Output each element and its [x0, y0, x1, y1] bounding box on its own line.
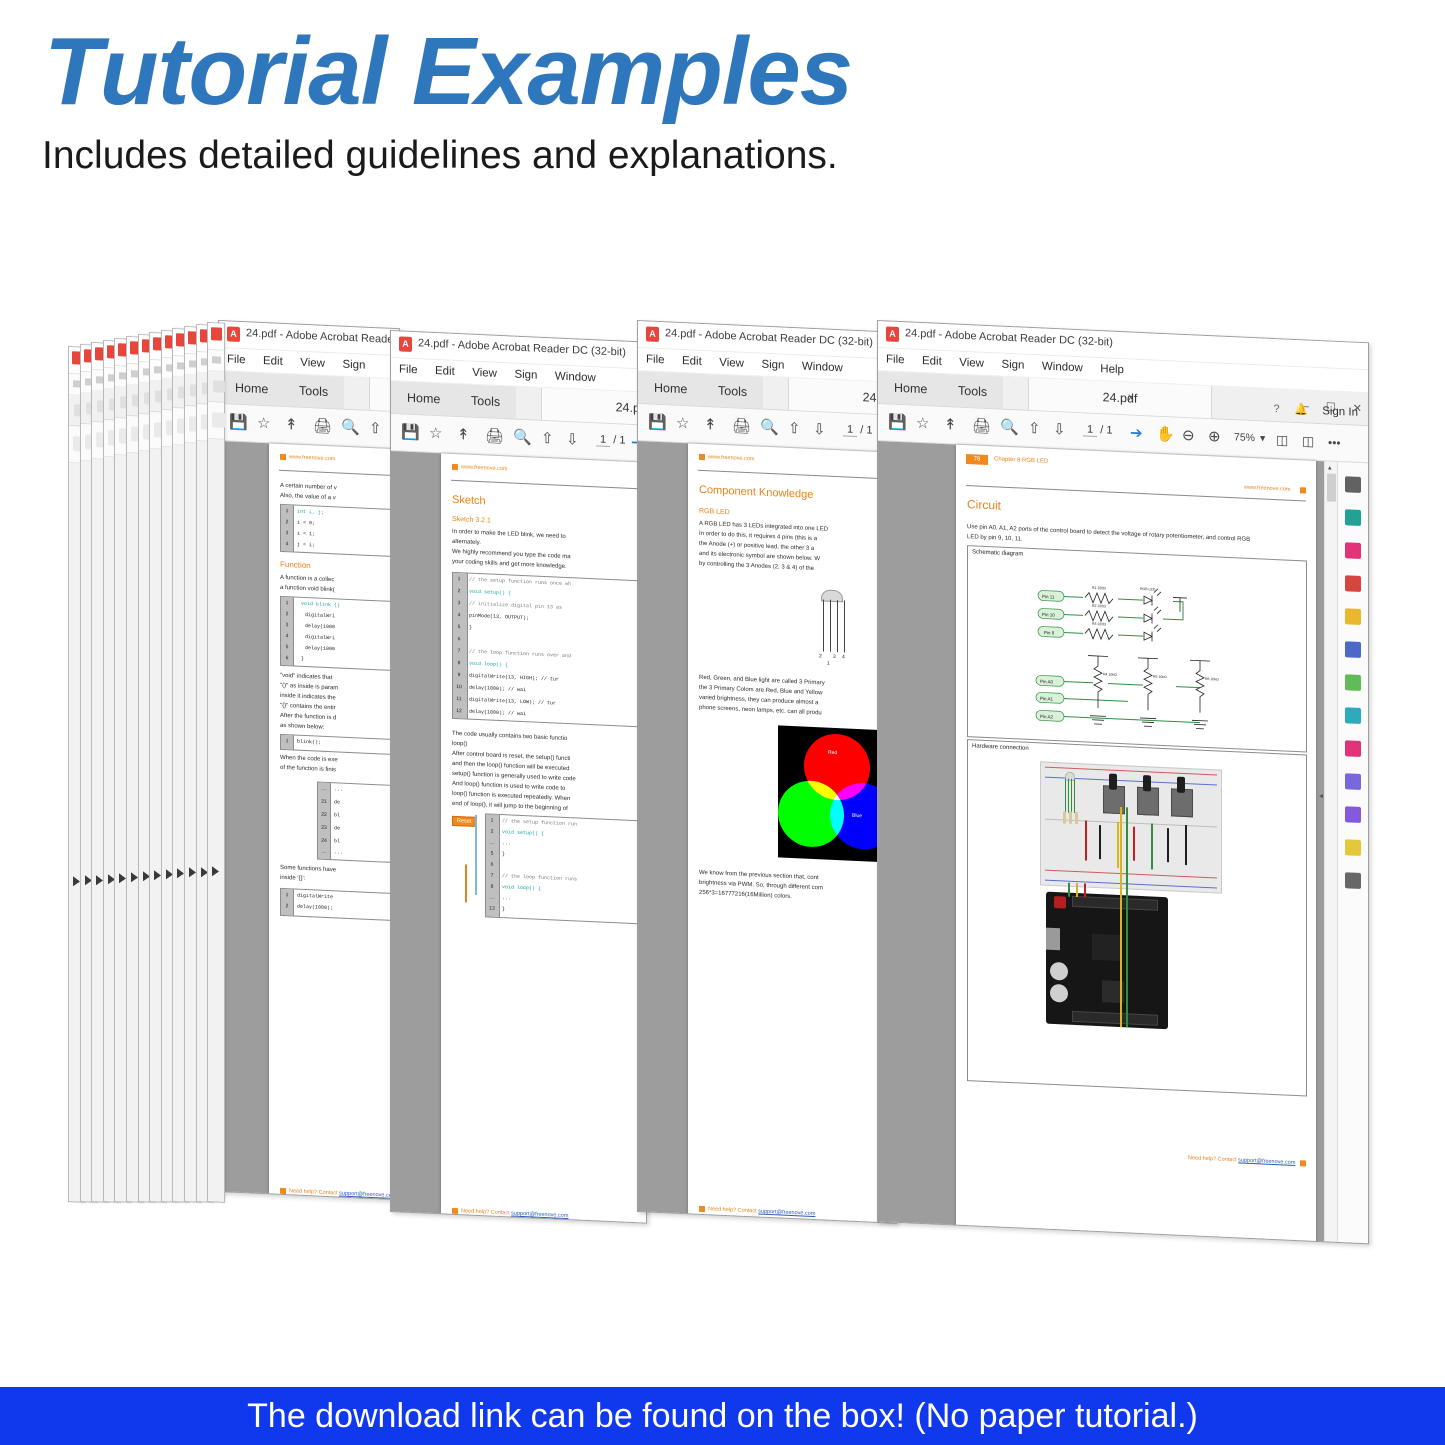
- print-icon[interactable]: 🖨: [972, 416, 991, 437]
- tab-home[interactable]: Home: [219, 371, 284, 406]
- star-icon[interactable]: ☆: [429, 424, 442, 445]
- code-line: digitalWrite(13, LOW); // tur: [469, 697, 556, 707]
- save-icon[interactable]: 💾: [648, 412, 667, 433]
- window-stack-stage: A 24.pdf - Adobe Acrobat Reader DC (32-b…: [0, 210, 1445, 1340]
- code-line-number: 3: [282, 530, 292, 536]
- tab-close-button[interactable]: x: [1128, 391, 1134, 403]
- code-line-number: 1: [282, 508, 292, 514]
- tab-tools[interactable]: Tools: [455, 384, 516, 419]
- page-separator: /: [1100, 424, 1103, 436]
- hardware-label: Hardware connection: [972, 743, 1029, 752]
- chevron-right-icon[interactable]: [131, 872, 138, 882]
- code-line: ...: [502, 895, 511, 901]
- chevron-right-icon[interactable]: [73, 876, 80, 886]
- code-line: // the loop function runs: [502, 873, 577, 882]
- print-icon[interactable]: 🖨: [485, 426, 504, 447]
- paragraph: loop(): [452, 740, 467, 750]
- arrow-up-icon[interactable]: ⇧: [369, 419, 382, 440]
- document-viewer[interactable]: 78 Chapter 8 RGB LED www.freenove.com Ci…: [878, 441, 1368, 1244]
- code-line-number: 7: [454, 648, 464, 654]
- code-line: blink();: [297, 739, 321, 746]
- code-line-number: ...: [487, 839, 497, 845]
- code-line: // the loop function runs over and: [469, 649, 571, 660]
- menu-file[interactable]: File: [399, 358, 418, 381]
- code-line: delay(1000: [305, 623, 335, 630]
- page-total: 1: [1106, 424, 1112, 436]
- page-separator: /: [860, 424, 863, 436]
- upload-icon[interactable]: ↟: [457, 425, 470, 446]
- code-line-number: 1: [454, 576, 464, 582]
- menu-sign[interactable]: Sign: [761, 354, 784, 377]
- venn-label-blue: Blue: [852, 813, 862, 819]
- measure-icon[interactable]: [1345, 806, 1361, 823]
- code-line-number: 6: [454, 636, 464, 642]
- code-line: void loop() {: [502, 884, 541, 892]
- subsection-heading: RGB LED: [699, 508, 730, 516]
- code-line-number: 1: [487, 817, 497, 823]
- paragraph: inside '{}':: [280, 874, 305, 884]
- promo-header: Tutorial Examples Includes detailed guid…: [0, 0, 1445, 210]
- code-line-number: 24: [319, 838, 329, 844]
- save-icon[interactable]: 💾: [229, 412, 248, 433]
- combine-files-icon[interactable]: [1345, 641, 1361, 658]
- footer-link[interactable]: support@freenove.com: [511, 1211, 568, 1220]
- code-block: 1 blink();: [280, 734, 400, 757]
- paragraph: The code usually contains two basic func…: [452, 730, 567, 744]
- code-line: delay(1000); // wai: [469, 685, 526, 694]
- organize-pages-icon[interactable]: [1345, 542, 1361, 559]
- menu-window[interactable]: Window: [802, 355, 843, 379]
- magnifier-icon[interactable]: 🔍: [513, 428, 532, 449]
- zoom-level[interactable]: 75%: [1234, 431, 1255, 444]
- page-www: www.freenove.com: [708, 454, 754, 462]
- page-current[interactable]: 1: [1083, 423, 1097, 437]
- acrobat-logo-icon: [211, 327, 222, 340]
- reset-badge: Reset: [452, 816, 476, 827]
- code-line: int i, j;: [297, 509, 324, 516]
- svg-text:R3 220Ω: R3 220Ω: [1092, 622, 1106, 627]
- tab-home[interactable]: Home: [391, 381, 456, 416]
- print-icon[interactable]: 🖨: [732, 416, 751, 437]
- code-line: ...: [502, 840, 511, 846]
- search-icon[interactable]: [1345, 476, 1361, 493]
- code-block: 1 2 3 4 5 6 void blink () digitalWri del…: [280, 596, 400, 673]
- svg-text:R4 10kΩ: R4 10kΩ: [1103, 672, 1117, 677]
- menu-view[interactable]: View: [472, 362, 497, 385]
- vertical-scrollbar[interactable]: ▴ ▾: [1324, 461, 1338, 1244]
- edit-pdf-icon[interactable]: [1345, 674, 1361, 691]
- page-footer: Need help? Contact support@freenove.com: [708, 1206, 815, 1217]
- page-current[interactable]: 1: [596, 433, 610, 447]
- footer-text: Need help? Contact: [461, 1208, 511, 1216]
- pdf-page: www.freenove.com Component Knowledge RGB…: [688, 443, 896, 1223]
- chevron-down-icon[interactable]: ▾: [1260, 432, 1265, 444]
- code-line-number: 3: [454, 600, 464, 606]
- section-heading: Component Knowledge: [699, 484, 813, 501]
- sliver-document-area: [208, 439, 224, 1202]
- code-line-number: 22: [319, 812, 329, 818]
- menu-file[interactable]: File: [227, 348, 246, 371]
- acrobat-logo-icon: A: [886, 326, 899, 342]
- subsection-heading: Sketch 3.2.1: [452, 516, 491, 525]
- code-line: i = 1;: [297, 531, 315, 538]
- code-line: i = 0;: [297, 520, 315, 527]
- arrow-down-icon[interactable]: ⇩: [813, 420, 826, 441]
- window-title: 24.pdf - Adobe Acrobat Reader DC (32-bit…: [418, 337, 626, 358]
- arrow-up-icon[interactable]: ⇧: [1028, 419, 1041, 440]
- upload-icon[interactable]: ↟: [704, 415, 717, 436]
- svg-text:RGB LED: RGB LED: [1140, 587, 1156, 592]
- code-block: 1 2 3 4 int i, j; i = 0; i = 1; j = i;: [280, 504, 400, 559]
- code-line: }: [301, 656, 304, 662]
- page-footer: Need help? Contact support@freenove.com: [289, 1188, 396, 1199]
- acrobat-logo-icon: A: [646, 326, 659, 342]
- scrollbar-thumb[interactable]: [1327, 473, 1336, 501]
- code-line-number: 5: [282, 644, 292, 650]
- footer-text: Need help? Contact: [708, 1206, 758, 1214]
- code-line-number: 3: [282, 622, 292, 628]
- certificate-icon[interactable]: [1345, 839, 1361, 856]
- code-line-number: 4: [282, 633, 292, 639]
- page-separator: /: [613, 434, 616, 446]
- menu-sign[interactable]: Sign: [514, 364, 537, 387]
- code-line-number: 8: [454, 660, 464, 666]
- code-line: digitalWrite(13, HIGH); // tur: [469, 673, 559, 683]
- download-banner: The download link can be found on the bo…: [0, 1387, 1445, 1445]
- code-line: bl: [334, 838, 340, 844]
- paragraph: a function void blink(: [280, 584, 335, 595]
- svg-text:R1 220Ω: R1 220Ω: [1092, 586, 1106, 591]
- page-total: 1: [619, 434, 625, 446]
- code-block: 1 2 3 4 5 6 7 8 9 10 11 12 // the setup …: [452, 572, 639, 727]
- code-line: }: [502, 906, 505, 912]
- stamp-icon[interactable]: [1345, 773, 1361, 790]
- code-line: delay(1000: [305, 645, 335, 652]
- acrobat-window-1[interactable]: A 24.pdf - Adobe Acrobat Reader DC (32-b…: [218, 320, 400, 1200]
- code-line-number: ...: [319, 786, 329, 792]
- sign-in-button[interactable]: Sign In: [1322, 405, 1358, 419]
- paragraph: of the function is finis: [280, 764, 336, 776]
- zoom-out-icon[interactable]: ⊖: [1182, 426, 1195, 447]
- hand-icon[interactable]: ✋: [1156, 425, 1175, 446]
- code-line-number: 5: [454, 624, 464, 630]
- toolbar-right-group[interactable]: ? 🔔 Sign In: [1273, 399, 1358, 423]
- code-line-number: 23: [319, 825, 329, 831]
- menu-edit[interactable]: Edit: [263, 350, 283, 373]
- flow-line-orange: [465, 864, 467, 902]
- footer-link[interactable]: support@freenove.com: [1238, 1157, 1295, 1166]
- code-line-number: 4: [454, 612, 464, 618]
- pin-label-center: 1: [827, 661, 830, 667]
- venn-label-red: Red: [828, 750, 837, 756]
- code-line: de: [334, 825, 340, 831]
- schematic-svg: Pin 11 Pin 10 Pin 9 R1 220Ω R2 220Ω R3 2…: [968, 562, 1306, 749]
- page-footer: Need help? Contact support@freenove.com: [461, 1208, 568, 1219]
- code-line: // the setup function runs once wh: [469, 577, 571, 588]
- menu-view[interactable]: View: [719, 352, 744, 375]
- code-line: de: [334, 799, 340, 805]
- svg-text:Pin 9: Pin 9: [1044, 630, 1055, 635]
- menu-edit[interactable]: Edit: [435, 360, 455, 383]
- page-number-badge: 78: [966, 454, 988, 465]
- code-line-number: 21: [319, 799, 329, 805]
- code-line-number: 7: [487, 872, 497, 878]
- section-heading: Sketch: [452, 494, 486, 508]
- window-title: 24.pdf - Adobe Acrobat Reader DC (32-bit…: [665, 327, 873, 348]
- code-line-number: 13: [487, 905, 497, 911]
- bell-icon[interactable]: 🔔: [1294, 404, 1308, 417]
- acrobat-window-3[interactable]: A 24.pdf - Adobe Acrobat Reader DC (32-b…: [637, 320, 897, 1224]
- menu-window[interactable]: Window: [1042, 355, 1083, 379]
- sliver-menu-bar: [208, 350, 224, 372]
- code-line-number: 9: [454, 672, 464, 678]
- code-line: // initialize digital pin 13 as: [469, 601, 562, 611]
- page-current[interactable]: 1: [843, 423, 857, 437]
- chevron-right-icon[interactable]: [212, 866, 219, 876]
- code-line-number: 2: [454, 588, 464, 594]
- pin-label: 3: [833, 654, 836, 660]
- sliver-title-bar: [208, 323, 224, 351]
- magnifier-icon[interactable]: 🔍: [760, 418, 779, 439]
- pin-label: 2: [819, 653, 822, 659]
- pdf-page: www.freenove.com Sketch Sketch 3.2.1 In …: [441, 453, 646, 1223]
- code-block: 1 2 ... 5 6 7 8 ... 13 // the setup func…: [485, 813, 639, 924]
- collapse-panel-arrow-icon[interactable]: ◂: [1319, 791, 1323, 800]
- control-board: [1046, 892, 1168, 1030]
- svg-text:Pin 11: Pin 11: [1042, 594, 1055, 600]
- menu-file[interactable]: File: [886, 348, 905, 371]
- schematic-label: Schematic diagram: [972, 549, 1023, 557]
- fit-page-icon[interactable]: ◫: [1276, 430, 1288, 451]
- star-icon[interactable]: ☆: [257, 414, 270, 435]
- menu-edit[interactable]: Edit: [682, 350, 702, 373]
- tab-tools[interactable]: Tools: [283, 374, 344, 409]
- chapter-title: Chapter 8 RGB LED: [994, 456, 1048, 464]
- code-line: delay(1000); // wai: [469, 709, 526, 718]
- page-www: www.freenove.com: [289, 454, 335, 462]
- pin-label: 4: [842, 654, 845, 660]
- page-subtitle: Includes detailed guidelines and explana…: [42, 134, 838, 178]
- svg-text:Pin A2: Pin A2: [1040, 714, 1054, 720]
- pdf-page: 78 Chapter 8 RGB LED www.freenove.com Ci…: [956, 445, 1316, 1245]
- cursor-icon[interactable]: ➔: [1130, 423, 1143, 444]
- footer-text: Need help? Contact: [289, 1188, 339, 1196]
- code-line-number: 2: [487, 828, 497, 834]
- code-line: delay(1000);: [297, 904, 333, 912]
- arrow-up-icon[interactable]: ⇧: [541, 429, 554, 450]
- page-indicator[interactable]: 1 / 1: [843, 423, 872, 436]
- banner-text: The download link can be found on the bo…: [247, 1397, 1198, 1436]
- code-line-number: 5: [487, 850, 497, 856]
- page-total: 1: [866, 424, 872, 436]
- scroll-up-arrow[interactable]: ▴: [1328, 463, 1332, 471]
- menu-window[interactable]: Window: [555, 365, 596, 389]
- tab-home[interactable]: Home: [638, 371, 703, 406]
- menu-help[interactable]: Help: [1100, 358, 1124, 381]
- star-icon[interactable]: ☆: [916, 414, 929, 435]
- redact-icon[interactable]: [1345, 872, 1361, 889]
- code-line: void loop() {: [469, 661, 508, 669]
- acrobat-window-2[interactable]: A 24.pdf - Adobe Acrobat Reader DC (32-b…: [390, 330, 647, 1224]
- footer-link[interactable]: support@freenove.com: [339, 1191, 396, 1200]
- acrobat-logo-icon: A: [399, 336, 412, 352]
- code-line: ...: [334, 786, 343, 792]
- chevron-right-icon[interactable]: [189, 868, 196, 878]
- menu-view[interactable]: View: [300, 352, 325, 375]
- svg-text:Pin 10: Pin 10: [1042, 612, 1055, 618]
- code-line: bl: [334, 812, 340, 818]
- code-line-number: ...: [319, 849, 329, 855]
- page-indicator[interactable]: 1 / 1: [596, 433, 625, 446]
- code-line: // the setup function run: [502, 818, 577, 827]
- svg-text:Pin A1: Pin A1: [1040, 696, 1054, 702]
- arrow-down-icon[interactable]: ⇩: [566, 430, 579, 451]
- magnifier-icon[interactable]: 🔍: [341, 418, 360, 439]
- code-line-number: 6: [487, 861, 497, 867]
- code-line: digitalWri: [305, 634, 335, 641]
- code-line-number: 1: [282, 738, 292, 744]
- code-line-number: 10: [454, 684, 464, 690]
- protect-icon[interactable]: [1345, 707, 1361, 724]
- page-www: www.freenove.com: [1244, 485, 1290, 493]
- page-title: Tutorial Examples: [44, 24, 852, 120]
- comment-icon[interactable]: [1345, 608, 1361, 625]
- menu-sign[interactable]: Sign: [1001, 354, 1024, 377]
- svg-text:Pin A0: Pin A0: [1040, 679, 1054, 685]
- fill-sign-icon[interactable]: [1345, 740, 1361, 757]
- code-line: pinMode(13, OUTPUT);: [469, 613, 529, 622]
- svg-text:R6 10kΩ: R6 10kΩ: [1205, 677, 1219, 682]
- code-line-number: ...: [487, 894, 497, 900]
- acrobat-window-4[interactable]: A 24.pdf - Adobe Acrobat Reader DC (32-b…: [877, 320, 1369, 1244]
- code-line-number: 12: [454, 708, 464, 714]
- menu-sign[interactable]: Sign: [342, 354, 365, 377]
- more-tools-icon[interactable]: •••: [1328, 432, 1341, 453]
- code-line: void setup() {: [469, 589, 511, 597]
- code-line: }: [469, 625, 472, 631]
- tools-rail[interactable]: [1337, 462, 1368, 1244]
- code-line: digitalWrite: [297, 893, 333, 901]
- sliver-tab-bar: [208, 371, 224, 403]
- svg-text:R5 10kΩ: R5 10kΩ: [1153, 675, 1167, 680]
- document-viewer[interactable]: www.freenove.com Sketch Sketch 3.2.1 In …: [391, 451, 646, 1224]
- tab-home[interactable]: Home: [878, 371, 943, 406]
- code-line-number: 11: [454, 696, 464, 702]
- scroll-mode-icon[interactable]: ◫: [1302, 431, 1314, 452]
- acrobat-logo-icon: A: [227, 326, 240, 342]
- page-indicator[interactable]: 1 / 1: [1083, 423, 1112, 436]
- code-block: 1 2 digitalWrite delay(1000);: [280, 888, 400, 923]
- breadboard: [1040, 761, 1222, 893]
- footer-link[interactable]: support@freenove.com: [758, 1209, 815, 1218]
- paragraph: as shown below:: [280, 722, 324, 733]
- code-line-number: 2: [282, 611, 292, 617]
- pdf-page: www.freenove.com A certain number of v A…: [269, 443, 400, 1200]
- star-icon[interactable]: ☆: [676, 414, 689, 435]
- page-www: www.freenove.com: [461, 464, 507, 472]
- footer-text: Need help? Contact: [1188, 1155, 1238, 1163]
- create-pdf-icon[interactable]: [1345, 575, 1361, 592]
- help-icon[interactable]: ?: [1273, 403, 1279, 415]
- menu-file[interactable]: File: [646, 348, 665, 371]
- code-line-number: 2: [282, 903, 292, 909]
- paragraph: LED by pin 9, 10, 11.: [967, 533, 1023, 545]
- export-pdf-icon[interactable]: [1345, 509, 1361, 526]
- print-icon[interactable]: 🖨: [313, 416, 332, 437]
- upload-icon[interactable]: ↟: [285, 415, 298, 436]
- rgb-led-figure: 2 3 4 1: [793, 588, 873, 672]
- window-sliver[interactable]: [207, 322, 225, 1203]
- code-line: void setup() {: [502, 829, 544, 837]
- tab-tools[interactable]: Tools: [702, 374, 763, 409]
- window-title: 24.pdf - Adobe Acrobat Reader DC (32-bit…: [905, 327, 1113, 348]
- code-line: j = i;: [297, 542, 315, 549]
- code-block: ... 21 22 23 24 ... ... de bl de bl ...: [317, 781, 391, 862]
- svg-text:R2 220Ω: R2 220Ω: [1092, 604, 1106, 609]
- code-line-number: 1: [282, 892, 292, 898]
- page-footer: Need help? Contact support@freenove.com: [1188, 1155, 1295, 1166]
- code-line-number: 1: [282, 600, 292, 606]
- section-heading: Circuit: [967, 497, 1001, 513]
- save-icon[interactable]: 💾: [888, 412, 907, 433]
- paragraph: alternately.: [452, 538, 481, 548]
- arrow-up-icon[interactable]: ⇧: [788, 419, 801, 440]
- code-line: void blink (): [301, 601, 340, 609]
- code-line-number: 2: [282, 519, 292, 525]
- code-line: ...: [334, 849, 343, 855]
- document-viewer[interactable]: www.freenove.com Component Knowledge RGB…: [638, 441, 896, 1224]
- zoom-in-icon[interactable]: ⊕: [1208, 427, 1221, 448]
- code-line: digitalWri: [305, 612, 335, 619]
- menu-edit[interactable]: Edit: [922, 350, 942, 373]
- arrow-down-icon[interactable]: ⇩: [1053, 420, 1066, 441]
- code-line-number: 8: [487, 883, 497, 889]
- document-viewer[interactable]: www.freenove.com A certain number of v A…: [219, 441, 399, 1200]
- menu-view[interactable]: View: [959, 352, 984, 375]
- code-line: }: [502, 851, 505, 857]
- schematic-figure: Schematic diagram Pin: [967, 545, 1307, 752]
- sliver-toolbar: [208, 402, 224, 440]
- section-heading: Function: [280, 560, 311, 570]
- tab-tools[interactable]: Tools: [942, 374, 1003, 409]
- code-line-number: 4: [282, 541, 292, 547]
- magnifier-icon[interactable]: 🔍: [1000, 418, 1019, 439]
- window-title: 24.pdf - Adobe Acrobat Reader DC (32-bit…: [246, 327, 400, 348]
- save-icon[interactable]: 💾: [401, 422, 420, 443]
- flow-line-blue: [475, 815, 477, 895]
- code-line-number: 6: [282, 655, 292, 661]
- hardware-connection-figure: Hardware connection: [967, 739, 1307, 1096]
- upload-icon[interactable]: ↟: [944, 415, 957, 436]
